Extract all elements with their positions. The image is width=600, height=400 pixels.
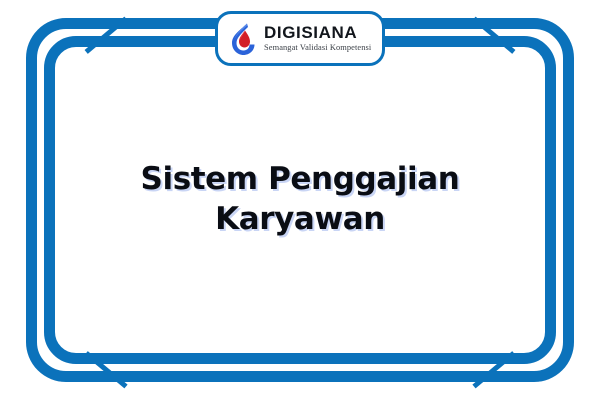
brand-badge: DIGISIANA Semangat Validasi Kompetensi [215, 11, 385, 66]
slide-canvas: Sistem Penggajian Karyawan DIGISIANA Sem… [0, 0, 600, 400]
brand-name: DIGISIANA [264, 24, 371, 41]
digisiana-droplet-icon [227, 22, 257, 56]
title-container: Sistem Penggajian Karyawan [62, 54, 538, 346]
brand-wordmark: DIGISIANA Semangat Validasi Kompetensi [264, 24, 371, 52]
page-title: Sistem Penggajian Karyawan [96, 160, 504, 239]
brand-tagline: Semangat Validasi Kompetensi [264, 44, 371, 52]
